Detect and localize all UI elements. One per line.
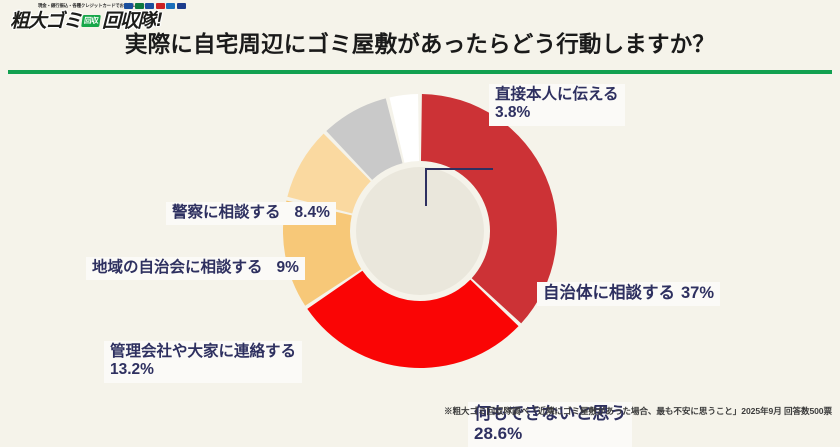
visa-badge [145,3,154,9]
chart-area: 直接本人に伝える 3.8% 警察に相談する8.4% 地域の自治会に相談する9% … [0,74,840,396]
brand-wordmark-part1: 粗大ゴミ [10,12,81,31]
brand-chip: 回収 [81,15,101,27]
nicos-badge [124,3,133,9]
donut-hole [356,167,484,295]
page-title: 実際に自宅周辺にゴミ屋敷があったらどう行動しますか？ [0,34,840,57]
slice-label-association-value: 9% [277,259,299,276]
slice-label-nothing-value: 28.6% [474,424,626,444]
slice-label-management-value: 13.2% [110,361,296,379]
slice-label-municipality-text: 自治体に相談する [543,284,675,302]
title-row: 実際に自宅周辺にゴミ屋敷があったらどう行動しますか？ [0,34,840,57]
jcb-badge [135,3,144,9]
brand-wordmark: 粗大ゴミ 回収 回収隊 ! [10,10,162,32]
amex-badge [166,3,175,9]
payment-badges [124,3,186,9]
slice-label-management: 管理会社や大家に連絡する 13.2% [104,341,302,383]
slice-label-management-text: 管理会社や大家に連絡する [110,343,296,361]
brand-wordmark-part2: 回収隊 [102,12,155,31]
slice-label-association: 地域の自治会に相談する9% [86,257,305,280]
slice-label-association-text: 地域の自治会に相談する [92,259,263,276]
slice-label-police-text: 警察に相談する [172,204,281,221]
slice-label-direct: 直接本人に伝える 3.8% [489,84,625,126]
slice-label-direct-text: 直接本人に伝える [495,86,619,104]
slice-label-direct-value: 3.8% [495,104,619,122]
leader-line-horizontal [425,168,493,170]
brand-exclamation: ! [156,10,162,32]
mastercard-badge [156,3,165,9]
brand-logo[interactable]: 現金・銀行振込・各種クレジットカードでお支払いOK! 粗大ゴミ 回収 回収隊 ! [6,2,236,32]
diners-badge [177,3,186,9]
slice-label-police-value: 8.4% [295,204,330,221]
leader-line-vertical [425,168,427,206]
slice-label-municipality-value: 37% [681,284,714,302]
footnote: ※粗大ゴミ回収隊調べ「近隣にゴミ屋敷があった場合、最も不安に思うこと」2025年… [444,405,832,417]
slice-label-police: 警察に相談する8.4% [166,202,336,225]
slice-label-municipality: 自治体に相談する37% [537,282,720,306]
